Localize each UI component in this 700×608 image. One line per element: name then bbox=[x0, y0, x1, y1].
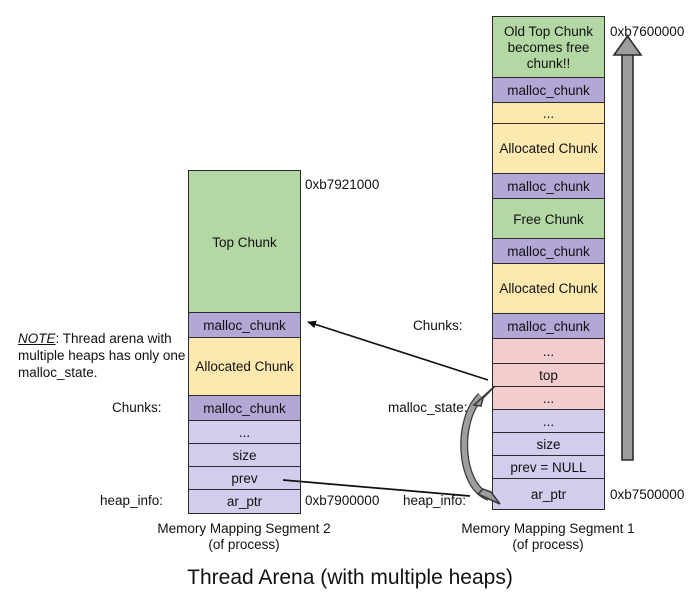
right-heap-info-label: heap_info: bbox=[403, 493, 466, 509]
left-caption-line2: (of process) bbox=[144, 537, 344, 553]
left-heap-info-label: heap_info: bbox=[100, 493, 163, 509]
left-top-address: 0xb7921000 bbox=[305, 177, 379, 193]
right-chunks-label: Chunks: bbox=[413, 318, 463, 334]
address-range-arrow bbox=[614, 36, 641, 460]
left-bottom-address: 0xb7900000 bbox=[305, 493, 379, 509]
right-top-address: 0xb7600000 bbox=[610, 24, 684, 40]
right-segment-caption: Memory Mapping Segment 1 (of process) bbox=[448, 521, 648, 553]
malloc-state-label: malloc_state: bbox=[388, 400, 468, 416]
note-prefix: NOTE bbox=[18, 331, 56, 346]
arrow-ar-ptr-to-malloc-state bbox=[464, 386, 500, 504]
right-caption-line1: Memory Mapping Segment 1 bbox=[448, 521, 648, 537]
note-text: NOTE: Thread arena with multiple heaps h… bbox=[18, 330, 198, 381]
left-segment-caption: Memory Mapping Segment 2 (of process) bbox=[144, 521, 344, 553]
arrows-overlay bbox=[0, 0, 700, 608]
left-caption-line1: Memory Mapping Segment 2 bbox=[144, 521, 344, 537]
diagram-canvas: Top Chunk malloc_chunk Allocated Chunk m… bbox=[0, 0, 700, 608]
right-caption-line2: (of process) bbox=[448, 537, 648, 553]
right-bottom-address: 0xb7500000 bbox=[610, 487, 684, 503]
left-chunks-label: Chunks: bbox=[112, 400, 162, 416]
diagram-title: Thread Arena (with multiple heaps) bbox=[0, 565, 700, 591]
